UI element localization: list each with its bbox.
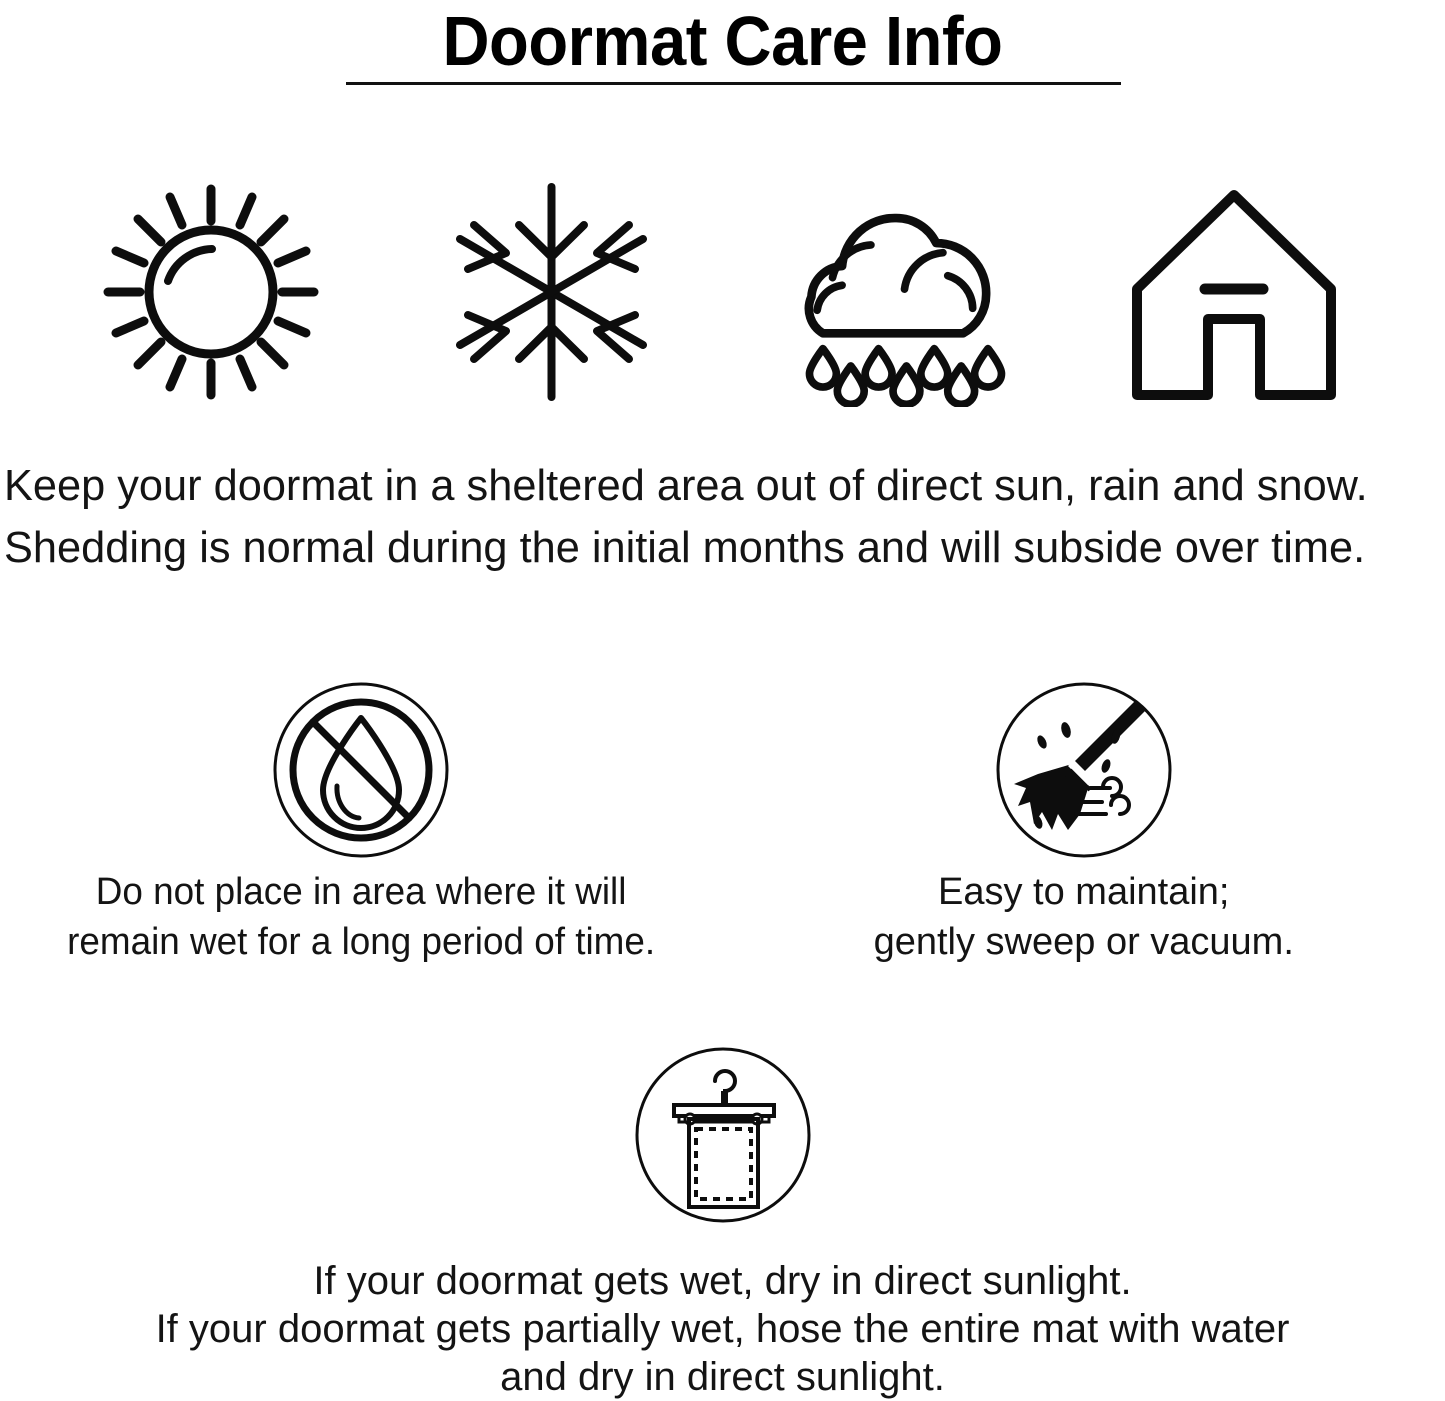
care-column-sweep: Easy to maintain; gently sweep or vacuum… — [723, 672, 1445, 982]
page-title: Doormat Care Info — [51, 0, 1395, 80]
drying-caption-line-3: and dry in direct sunlight. — [156, 1353, 1290, 1401]
hanging-dry-mat-icon-wrap — [633, 1035, 813, 1235]
snowflake-icon-slot — [432, 177, 672, 407]
sweep-caption-line-2: gently sweep or vacuum. — [874, 921, 1294, 963]
title-underline-rule — [346, 82, 1121, 85]
drying-caption-line-1: If your doormat gets wet, dry in direct … — [156, 1257, 1290, 1305]
no-water-caption-line-2: remain wet for a long period of time. — [67, 921, 655, 963]
intro-line-2: Shedding is normal during the initial mo… — [4, 517, 1419, 579]
intro-line-1: Keep your doormat in a sheltered area ou… — [4, 455, 1419, 517]
sun-icon-slot — [91, 177, 331, 407]
no-water-caption-line-1: Do not place in area where it will — [96, 871, 627, 913]
sweep-caption: Easy to maintain; gently sweep or vacuum… — [874, 867, 1294, 967]
snowflake-icon — [444, 177, 659, 407]
sweep-caption-line-1: Easy to maintain; — [938, 871, 1229, 913]
drying-caption: If your doormat gets wet, dry in direct … — [156, 1257, 1290, 1401]
drying-caption-line-2: If your doormat gets partially wet, hose… — [156, 1305, 1290, 1353]
rain-cloud-icon — [773, 177, 1013, 407]
title-block: Doormat Care Info — [0, 0, 1445, 80]
broom-sweep-icon — [994, 680, 1174, 860]
care-column-no-water: Do not place in area where it will remai… — [0, 672, 723, 982]
doormat-care-info-sheet: Doormat Care Info — [0, 0, 1445, 1393]
top-icon-row — [0, 172, 1445, 412]
no-water-icon-wrap — [271, 672, 451, 867]
no-water-caption: Do not place in area where it will remai… — [67, 867, 655, 967]
no-water-icon — [271, 680, 451, 860]
care-columns: Do not place in area where it will remai… — [0, 672, 1445, 982]
hanging-dry-mat-icon — [633, 1045, 813, 1225]
broom-sweep-icon-wrap — [994, 672, 1174, 867]
drying-section: If your doormat gets wet, dry in direct … — [0, 1035, 1445, 1401]
rain-cloud-icon-slot — [773, 177, 1013, 407]
intro-paragraph: Keep your doormat in a sheltered area ou… — [0, 455, 1445, 579]
sun-icon — [96, 177, 326, 407]
house-icon — [1119, 177, 1349, 407]
house-icon-slot — [1114, 177, 1354, 407]
